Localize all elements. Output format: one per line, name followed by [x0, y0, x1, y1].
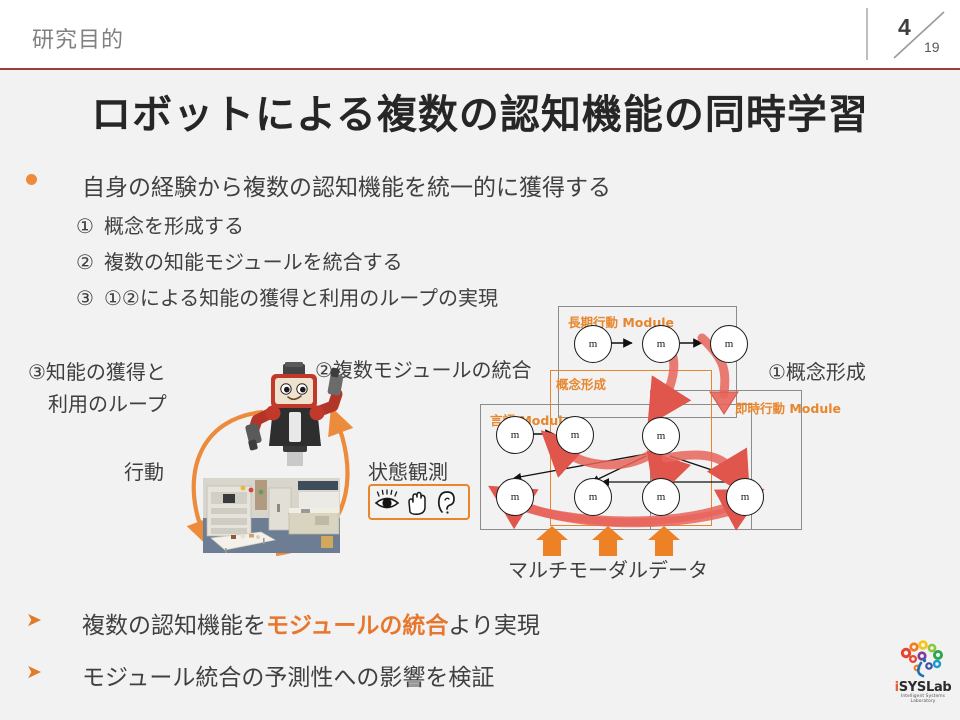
node-m: m — [726, 478, 764, 516]
node-m: m — [642, 478, 680, 516]
header-rule — [0, 68, 960, 70]
multimodal-input-arrows — [530, 524, 760, 560]
sub-item-3-text: ①②による知能の獲得と利用のループの実現 — [104, 286, 498, 310]
logo-text-rest: SYSLab — [899, 680, 952, 695]
node-m: m — [574, 478, 612, 516]
sub-item-1-text: 概念を形成する — [104, 214, 244, 238]
sub-item-1-number: ① — [76, 214, 104, 238]
section-title: 研究目的 — [32, 22, 124, 54]
bullet-dot-icon — [26, 174, 37, 185]
conclusion-1-pre: 複数の認知機能を — [82, 613, 266, 639]
conclusion-1-text: 複数の認知機能をモジュールの統合より実現 — [82, 606, 540, 640]
primary-bullet-text: 自身の経験から複数の認知機能を統一的に獲得する — [82, 168, 611, 202]
node-m: m — [710, 325, 748, 363]
laboratory-room-photo — [203, 478, 340, 553]
information-flow-arrows — [470, 306, 900, 556]
sub-item-2-text: 複数の知能モジュールを統合する — [104, 250, 403, 274]
conclusion-1-post: より実現 — [448, 613, 540, 639]
page-title: ロボットによる複数の認知機能の同時学習 — [0, 82, 960, 140]
slide: 研究目的 4 19 ロボットによる複数の認知機能の同時学習 自身の経験から複数の… — [0, 0, 960, 720]
isyslab-logo: iSYSLab Intelligent Systems Laboratory — [893, 641, 953, 707]
page-number: 4 19 — [880, 6, 956, 64]
logo-subtitle: Intelligent Systems Laboratory — [893, 694, 953, 704]
sub-item-2: ②複数の知能モジュールを統合する — [76, 246, 403, 275]
node-m: m — [642, 417, 680, 455]
module-diagram: 長期行動 Module 言語 Module 即時行動 Module 概念形成 — [470, 306, 900, 556]
node-m: m — [642, 325, 680, 363]
eye-icon — [376, 490, 398, 508]
chevron-right-icon: ➤ — [26, 609, 42, 631]
state-observation-label: 状態観測 — [368, 456, 448, 485]
header-divider — [866, 8, 868, 60]
state-observation-icons-box — [368, 484, 470, 520]
node-m: m — [496, 416, 534, 454]
loop-label-line1: ③知能の獲得と — [28, 356, 166, 385]
loop-label-line2: 利用のループ — [48, 388, 167, 417]
page-current: 4 — [898, 14, 911, 41]
chevron-right-icon: ➤ — [26, 661, 42, 683]
sub-item-2-number: ② — [76, 250, 104, 274]
ear-icon — [439, 492, 454, 514]
sub-item-3-number: ③ — [76, 286, 104, 310]
conclusion-1-highlight: モジュールの統合 — [266, 613, 448, 639]
node-m: m — [574, 325, 612, 363]
brain-gears-icon — [893, 639, 953, 679]
hand-icon — [409, 493, 425, 515]
slide-header — [0, 0, 960, 68]
page-total: 19 — [924, 39, 940, 55]
sub-item-1: ①概念を形成する — [76, 210, 244, 239]
node-m: m — [496, 478, 534, 516]
node-m: m — [556, 416, 594, 454]
action-label: 行動 — [124, 456, 164, 485]
sub-item-3: ③①②による知能の獲得と利用のループの実現 — [76, 282, 498, 311]
robot-illustration — [243, 358, 347, 466]
conclusion-2-text: モジュール統合の予測性への影響を検証 — [82, 658, 494, 692]
logo-text: iSYSLab — [893, 680, 953, 695]
